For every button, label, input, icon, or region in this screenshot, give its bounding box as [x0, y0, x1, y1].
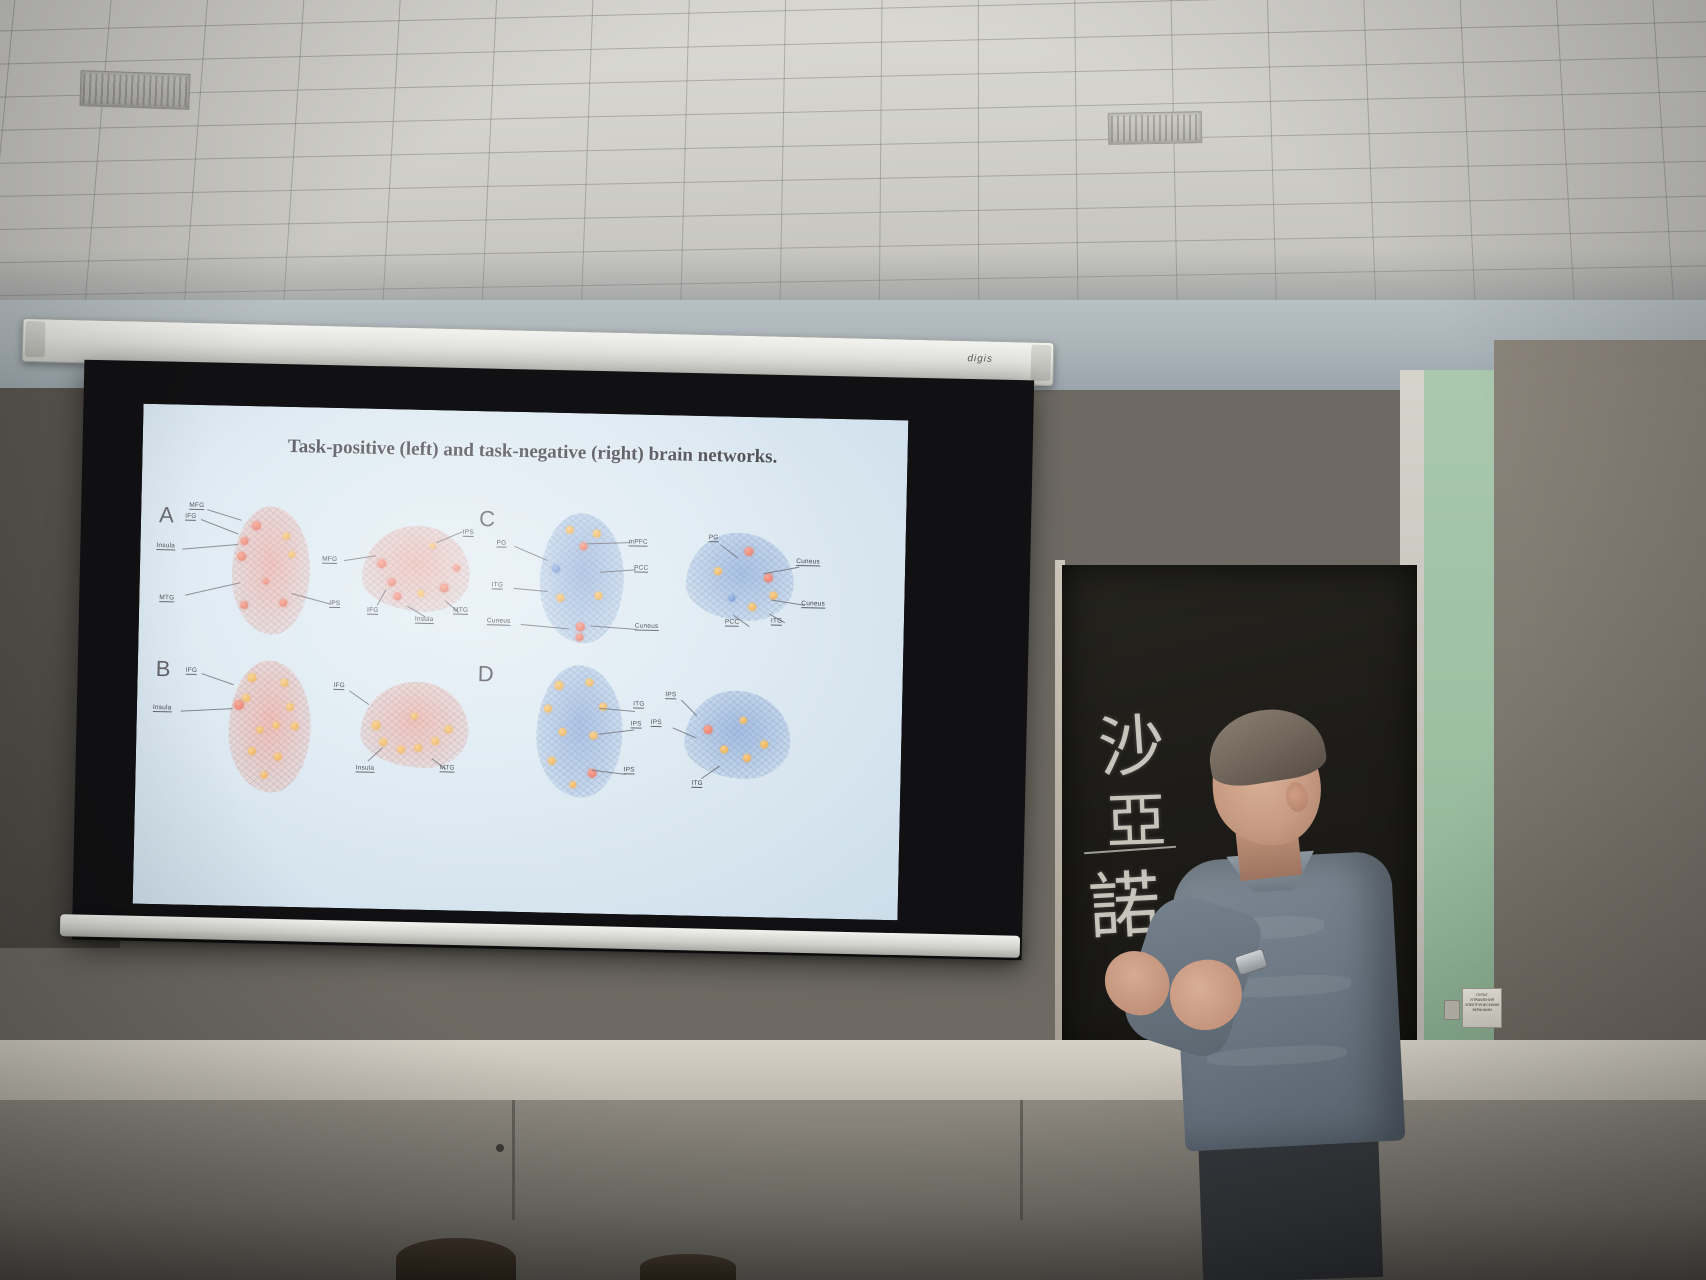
label-a2-ifg: IFG	[367, 607, 379, 615]
label-d2-ips-mid: IPS	[651, 719, 662, 727]
label-b2-insula: Insula	[356, 764, 375, 773]
label-d2-itg: ITG	[691, 780, 703, 788]
counter-seam-left	[512, 1100, 515, 1220]
brain-d-sagittal	[684, 690, 792, 780]
label-c-pcc: PCC	[634, 564, 649, 572]
label-a2-mfg: MFG	[322, 556, 337, 564]
label-c2-cuneus-top: Cuneus	[796, 558, 820, 567]
brain-a-sagittal	[361, 525, 471, 613]
brain-c-axial	[538, 512, 625, 644]
roller-cap-left	[25, 321, 46, 357]
audience-head-right	[640, 1254, 736, 1280]
label-c2-pcc: PCC	[725, 618, 740, 626]
ceiling-vent-center	[1108, 111, 1203, 145]
label-b-insula: Insula	[153, 704, 172, 713]
slide-title: Task-positive (left) and task-negative (…	[222, 433, 842, 471]
counter-seam-right	[1020, 1100, 1023, 1220]
wall-sign-line-3: ЭЛЕКТРИЧЕСКИМИ	[1463, 1003, 1501, 1008]
wall-sign-screen-control: ПУЛЬТ УПРАВЛЕНИЯ ЭЛЕКТРИЧЕСКИМИ ЭКРАНАМИ	[1462, 988, 1502, 1028]
leader-a-insula	[182, 544, 238, 550]
wall-socket[interactable]	[1444, 1000, 1460, 1020]
wall-sign-line-4: ЭКРАНАМИ	[1463, 1008, 1501, 1013]
audience-head-left	[396, 1238, 516, 1280]
presentation-slide: Task-positive (left) and task-negative (…	[133, 404, 909, 921]
ceiling-vent-left	[79, 70, 190, 110]
brain-b-axial	[227, 660, 312, 794]
label-d-itg: ITG	[633, 700, 645, 708]
brain-b-sagittal	[360, 681, 470, 769]
label-b2-mtg: MTG	[440, 764, 455, 772]
label-a-mtg: MTG	[159, 594, 174, 602]
label-a-mfg: MFG	[189, 502, 204, 510]
label-c2-itg: ITG	[771, 617, 783, 625]
label-a2-mtg: MTG	[453, 607, 468, 615]
projection-screen-surface[interactable]: Task-positive (left) and task-negative (…	[133, 404, 909, 921]
label-c2-cuneus-bottom: Cuneus	[801, 600, 825, 609]
brain-c-sagittal	[685, 532, 795, 622]
green-wall-column	[1424, 370, 1494, 1070]
panel-letter-b: B	[155, 656, 170, 682]
ceiling	[0, 0, 1706, 330]
lecture-hall-photo: 沙 亞 諾 ПУЛЬТ УПРАВЛЕНИЯ ЭЛЕКТРИЧЕСКИМИ ЭК…	[0, 0, 1706, 1280]
label-d-ips2: IPS	[624, 766, 635, 774]
label-c-pg: PG	[496, 539, 506, 547]
label-c2-pg: PG	[709, 534, 719, 542]
panel-letter-c: C	[479, 506, 495, 532]
label-b2-ifg: IFG	[333, 682, 345, 690]
label-a2-insula: Insula	[415, 616, 434, 625]
roller-cap-right	[1030, 345, 1051, 381]
label-a-ips: IPS	[329, 600, 340, 608]
label-c-itg: ITG	[492, 581, 504, 589]
leader-b-insula	[181, 708, 233, 711]
label-c-cuneus-right: Cuneus	[635, 622, 659, 631]
label-a-insula: Insula	[156, 542, 175, 551]
counter-knob[interactable]	[496, 1144, 504, 1152]
label-b-ifg: IFG	[186, 667, 198, 675]
label-a2-ips: IPS	[463, 529, 474, 537]
panel-letter-a: A	[159, 502, 174, 528]
label-c-mpfc: mPFC	[629, 538, 648, 547]
label-d-ips: IPS	[631, 720, 642, 728]
label-d2-ips-top: IPS	[665, 691, 676, 699]
label-c-cuneus-left: Cuneus	[487, 617, 511, 626]
front-counter-face	[0, 1100, 1706, 1280]
screen-brand-label: digis	[967, 353, 993, 365]
label-a-ifg: IFG	[185, 513, 197, 521]
brain-a-axial	[231, 506, 312, 636]
panel-letter-d: D	[477, 661, 493, 687]
right-wall	[1494, 340, 1706, 1100]
